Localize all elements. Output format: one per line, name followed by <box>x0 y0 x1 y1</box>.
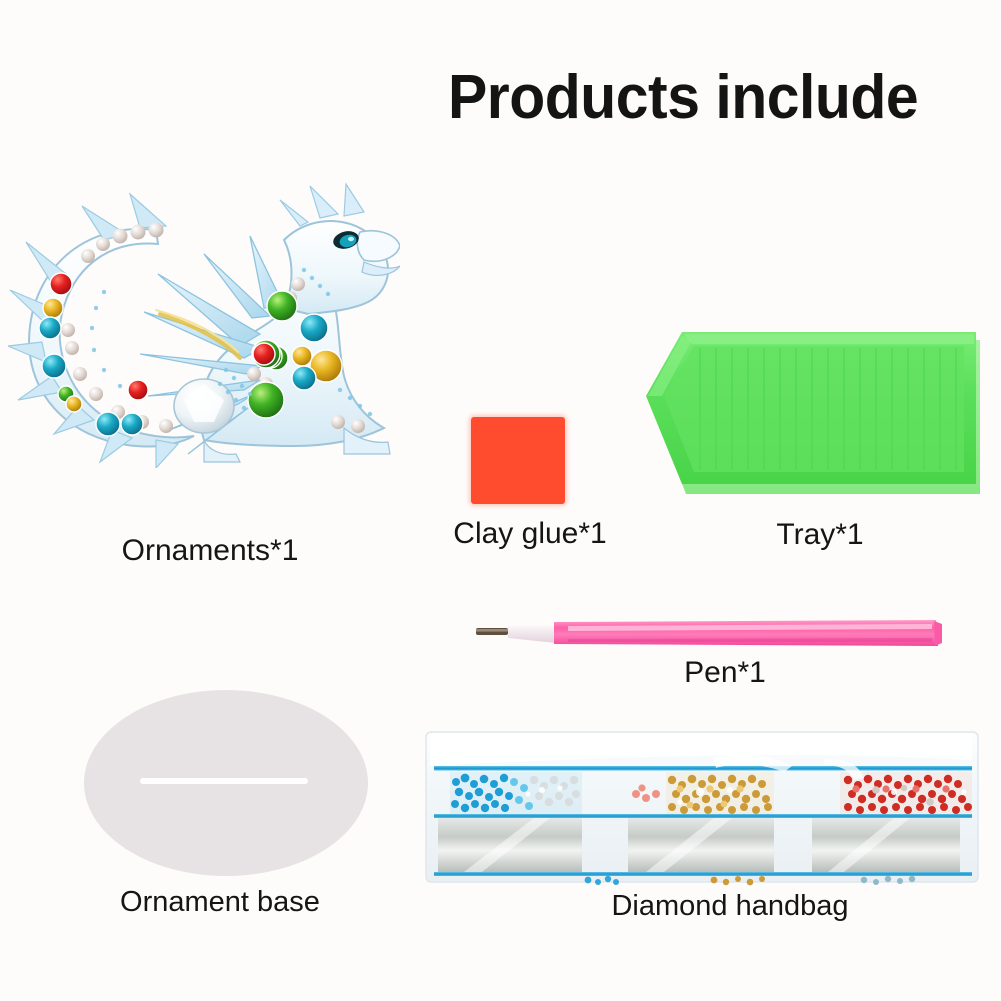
tray-icon <box>644 318 988 514</box>
pen-icon <box>468 612 948 654</box>
product-include-infographic: Products include <box>0 0 1001 1001</box>
tray-label: Tray*1 <box>640 518 1000 552</box>
ornament-base-slot <box>140 778 308 784</box>
pen-label: Pen*1 <box>560 656 890 690</box>
page-title: Products include <box>448 62 971 134</box>
crystal-dragon-ornament-icon <box>8 178 400 468</box>
ornament-base-label: Ornament base <box>60 886 380 919</box>
diamond-handbag-label: Diamond handbag <box>470 890 990 923</box>
diamond-handbag-icon <box>424 722 980 890</box>
ornament-base-icon <box>84 690 368 876</box>
clay-glue-icon <box>471 417 565 504</box>
